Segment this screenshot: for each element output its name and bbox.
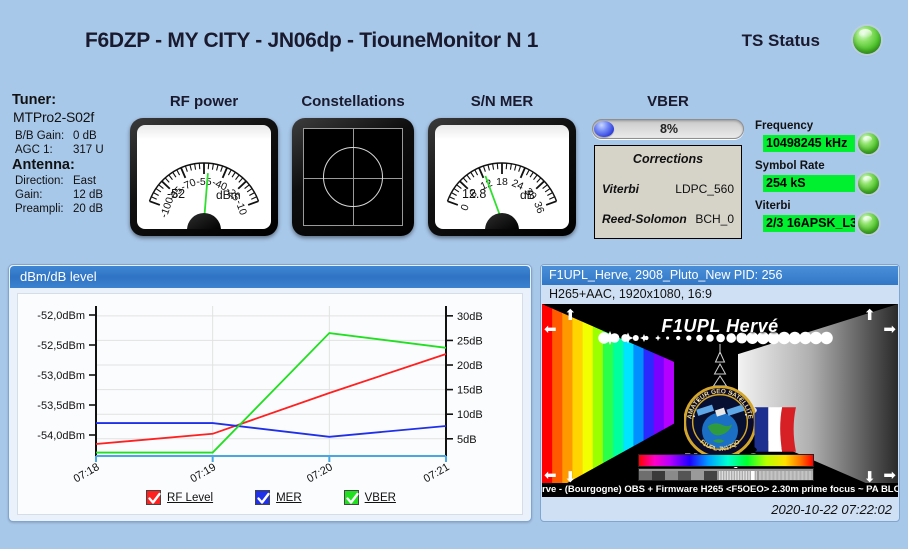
- antenna-row-gain: Gain: 12 dB: [12, 188, 126, 202]
- video-screen[interactable]: F1UPL Hervé AMATEUR GEO SATELLITEF1UPL J…: [542, 304, 898, 497]
- vber-progress-bar[interactable]: 8%: [592, 119, 744, 139]
- antenna-row-preampli-value: 20 dB: [73, 202, 103, 216]
- snr-mer-caption: S/N MER: [428, 93, 576, 110]
- app-header: F6DZP - MY CITY - JN06dp - TiouneMonitor…: [0, 0, 908, 78]
- svg-text:-54,0dBm: -54,0dBm: [37, 430, 85, 442]
- video-preview-panel: F1UPL_Herve, 2908_Pluto_New PID: 256 H26…: [540, 264, 900, 522]
- video-ticker-text: rve - (Bourgogne) OBS + Firmware H265 <F…: [542, 483, 898, 497]
- green-led-icon: [858, 133, 879, 154]
- antenna-row-direction-value: East: [73, 174, 96, 188]
- constellation-screen: [303, 128, 403, 226]
- video-format-info: H265+AAC, 1920x1080, 16:9: [542, 285, 898, 304]
- constellation-display: [292, 118, 414, 236]
- level-chart-title: dBm/dB level: [10, 266, 530, 288]
- frequency-row: 10498245 kHz: [755, 133, 905, 154]
- corrections-viterbi-value: LDPC_560: [675, 182, 734, 196]
- rf-power-meter: -100-85-70-55-40-25-10 -52 dBm: [130, 118, 278, 236]
- svg-text:18: 18: [496, 176, 508, 188]
- level-chart-plot-area: -52,0dBm-52,5dBm-53,0dBm-53,5dBm-54,0dBm…: [17, 293, 523, 515]
- constellation-circle: [323, 147, 383, 207]
- rf-power-caption: RF power: [130, 93, 278, 110]
- svg-text:-55: -55: [196, 176, 211, 188]
- frequency-value: 10498245 kHz: [763, 135, 855, 152]
- antenna-heading: Antenna:: [12, 157, 126, 173]
- svg-text:25dB: 25dB: [457, 335, 483, 347]
- legend-label-vber: VBER: [365, 492, 396, 504]
- rf-power-unit: dBm: [216, 188, 241, 202]
- svg-text:07:18: 07:18: [72, 461, 102, 485]
- symbol-rate-value: 254 kS: [763, 175, 855, 192]
- green-led-icon: [858, 173, 879, 194]
- ts-status-label: TS Status: [742, 31, 820, 51]
- checkbox-rf-level[interactable]: [146, 490, 161, 505]
- vber-percent-label: 8%: [593, 122, 745, 136]
- tuner-row-bb-gain-key: B/B Gain:: [15, 129, 73, 143]
- snr-mer-value: 12.8: [462, 187, 486, 201]
- svg-text:07:21: 07:21: [422, 461, 452, 485]
- antenna-row-direction: Direction: East: [12, 174, 126, 188]
- tuner-heading: Tuner:: [12, 92, 124, 108]
- corrections-title: Corrections: [595, 152, 741, 166]
- tuning-readouts: Frequency 10498245 kHz Symbol Rate 254 k…: [755, 120, 905, 240]
- svg-text:10dB: 10dB: [457, 409, 483, 421]
- constellations-caption: Constellations: [288, 93, 418, 110]
- corrections-viterbi-label: Viterbi: [602, 182, 639, 196]
- green-led-icon: [853, 26, 881, 54]
- checkbox-vber[interactable]: [344, 490, 359, 505]
- page-title: F6DZP - MY CITY - JN06dp - TiouneMonitor…: [85, 29, 538, 53]
- svg-text:07:19: 07:19: [188, 461, 218, 485]
- svg-text:30dB: 30dB: [457, 311, 483, 323]
- svg-text:-52,0dBm: -52,0dBm: [37, 310, 85, 322]
- tuner-row-agc-key: AGC 1:: [15, 143, 73, 157]
- corrections-reed-solomon-value: BCH_0: [695, 212, 734, 226]
- legend-label-rf-level: RF Level: [167, 492, 213, 504]
- level-chart-panel: dBm/dB level -52,0dBm-52,5dBm-53,0dBm-53…: [8, 264, 532, 522]
- antenna-row-preampli-key: Preampli:: [15, 202, 73, 216]
- legend-label-mer: MER: [276, 492, 302, 504]
- tuner-row-bb-gain: B/B Gain: 0 dB: [12, 129, 124, 143]
- rf-power-meter-face: -100-85-70-55-40-25-10 -52 dBm: [137, 125, 271, 229]
- svg-text:5dB: 5dB: [457, 434, 477, 446]
- level-chart-legend: RF Level MER VBER: [18, 490, 524, 505]
- viterbi-label: Viterbi: [755, 200, 905, 212]
- video-service-title: F1UPL_Herve, 2908_Pluto_New PID: 256: [542, 266, 898, 285]
- vber-caption: VBER: [592, 93, 744, 110]
- tuner-row-agc: AGC 1: 317 U: [12, 143, 124, 157]
- svg-text:07:20: 07:20: [305, 461, 335, 485]
- legend-item-mer[interactable]: MER: [255, 490, 302, 505]
- video-overlay-title: F1UPL Hervé: [542, 316, 898, 337]
- snr-mer-unit: dB: [520, 188, 535, 202]
- svg-text:0: 0: [459, 203, 472, 213]
- antenna-row-direction-key: Direction:: [15, 174, 73, 188]
- level-chart-svg: -52,0dBm-52,5dBm-53,0dBm-53,5dBm-54,0dBm…: [18, 294, 524, 516]
- antenna-row-gain-value: 12 dB: [73, 188, 103, 202]
- video-color-bars: [638, 454, 814, 467]
- antenna-info-block: Antenna: Direction: East Gain: 12 dB Pre…: [12, 157, 126, 216]
- legend-item-rf-level[interactable]: RF Level: [146, 490, 213, 505]
- svg-text:20dB: 20dB: [457, 360, 483, 372]
- svg-text:15dB: 15dB: [457, 385, 483, 397]
- corrections-row-reed-solomon: Reed-Solomon BCH_0: [595, 212, 741, 226]
- green-led-icon: [858, 213, 879, 234]
- corrections-box: Corrections Viterbi LDPC_560 Reed-Solomo…: [594, 145, 742, 239]
- snr-mer-meter-face: 061218243036 12.8 dB: [435, 125, 569, 229]
- viterbi-row: 2/3 16APSK_L3: [755, 213, 905, 234]
- antenna-row-gain-key: Gain:: [15, 188, 73, 202]
- antenna-row-preampli: Preampli: 20 dB: [12, 202, 126, 216]
- svg-text:-53,0dBm: -53,0dBm: [37, 370, 85, 382]
- tuner-row-bb-gain-value: 0 dB: [73, 129, 97, 143]
- rf-power-value: -52: [167, 187, 185, 201]
- legend-item-vber[interactable]: VBER: [344, 490, 396, 505]
- video-grayscale-bars: [638, 468, 814, 481]
- symbol-rate-row: 254 kS: [755, 173, 905, 194]
- snr-mer-meter: 061218243036 12.8 dB: [428, 118, 576, 236]
- tuner-row-agc-value: 317 U: [73, 143, 104, 157]
- corrections-row-viterbi: Viterbi LDPC_560: [595, 182, 741, 196]
- svg-text:-52,5dBm: -52,5dBm: [37, 340, 85, 352]
- french-flag-icon: [753, 404, 799, 452]
- frequency-label: Frequency: [755, 120, 905, 132]
- tuner-info-block: Tuner: MTPro2-S02f B/B Gain: 0 dB AGC 1:…: [12, 92, 124, 157]
- checkbox-mer[interactable]: [255, 490, 270, 505]
- satellite-emblem-icon: AMATEUR GEO SATELLITEF1UPL JN17QO: [684, 386, 756, 458]
- video-timestamp: 2020-10-22 07:22:02: [542, 502, 892, 517]
- symbol-rate-label: Symbol Rate: [755, 160, 905, 172]
- svg-text:36: 36: [531, 200, 546, 215]
- corrections-reed-solomon-label: Reed-Solomon: [602, 212, 687, 226]
- svg-text:-53,5dBm: -53,5dBm: [37, 400, 85, 412]
- viterbi-value: 2/3 16APSK_L3: [763, 215, 855, 232]
- tuner-model: MTPro2-S02f: [13, 109, 124, 125]
